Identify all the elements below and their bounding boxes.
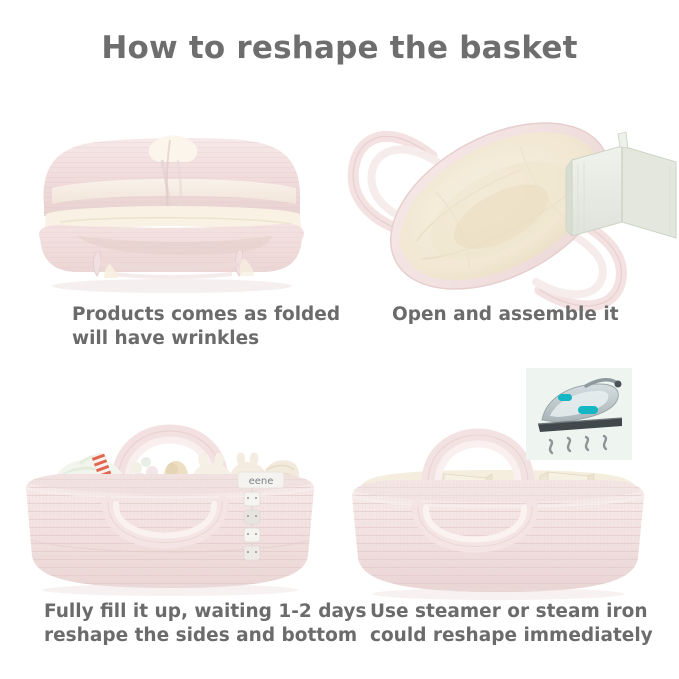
step-3-image: eene bbox=[0, 360, 340, 600]
iron-knob-left bbox=[558, 394, 572, 401]
handle-left bbox=[93, 252, 101, 276]
folded-basket-photo bbox=[0, 88, 340, 303]
open-basket-top-view-photo bbox=[340, 88, 679, 303]
step-2-image bbox=[340, 88, 679, 303]
step-4-caption: Use steamer or steam iron could reshape … bbox=[370, 600, 653, 648]
page-title: How to reshape the basket bbox=[0, 30, 679, 66]
step-4-image bbox=[340, 360, 679, 600]
step-1-caption: Products comes as folded will have wrink… bbox=[72, 303, 340, 351]
steam-iron-icon bbox=[526, 368, 632, 460]
step-2-caption: Open and assemble it bbox=[392, 303, 619, 327]
instruction-graphic: How to reshape the basket bbox=[0, 0, 679, 679]
step-1-image bbox=[0, 88, 340, 303]
name-banner-text: eene bbox=[249, 476, 274, 487]
filled-basket-photo: eene bbox=[0, 360, 340, 600]
empty-basket-with-iron-photo bbox=[340, 360, 679, 600]
iron-knob-right bbox=[578, 406, 598, 414]
step-3-caption: Fully fill it up, waiting 1-2 days resha… bbox=[44, 600, 366, 648]
